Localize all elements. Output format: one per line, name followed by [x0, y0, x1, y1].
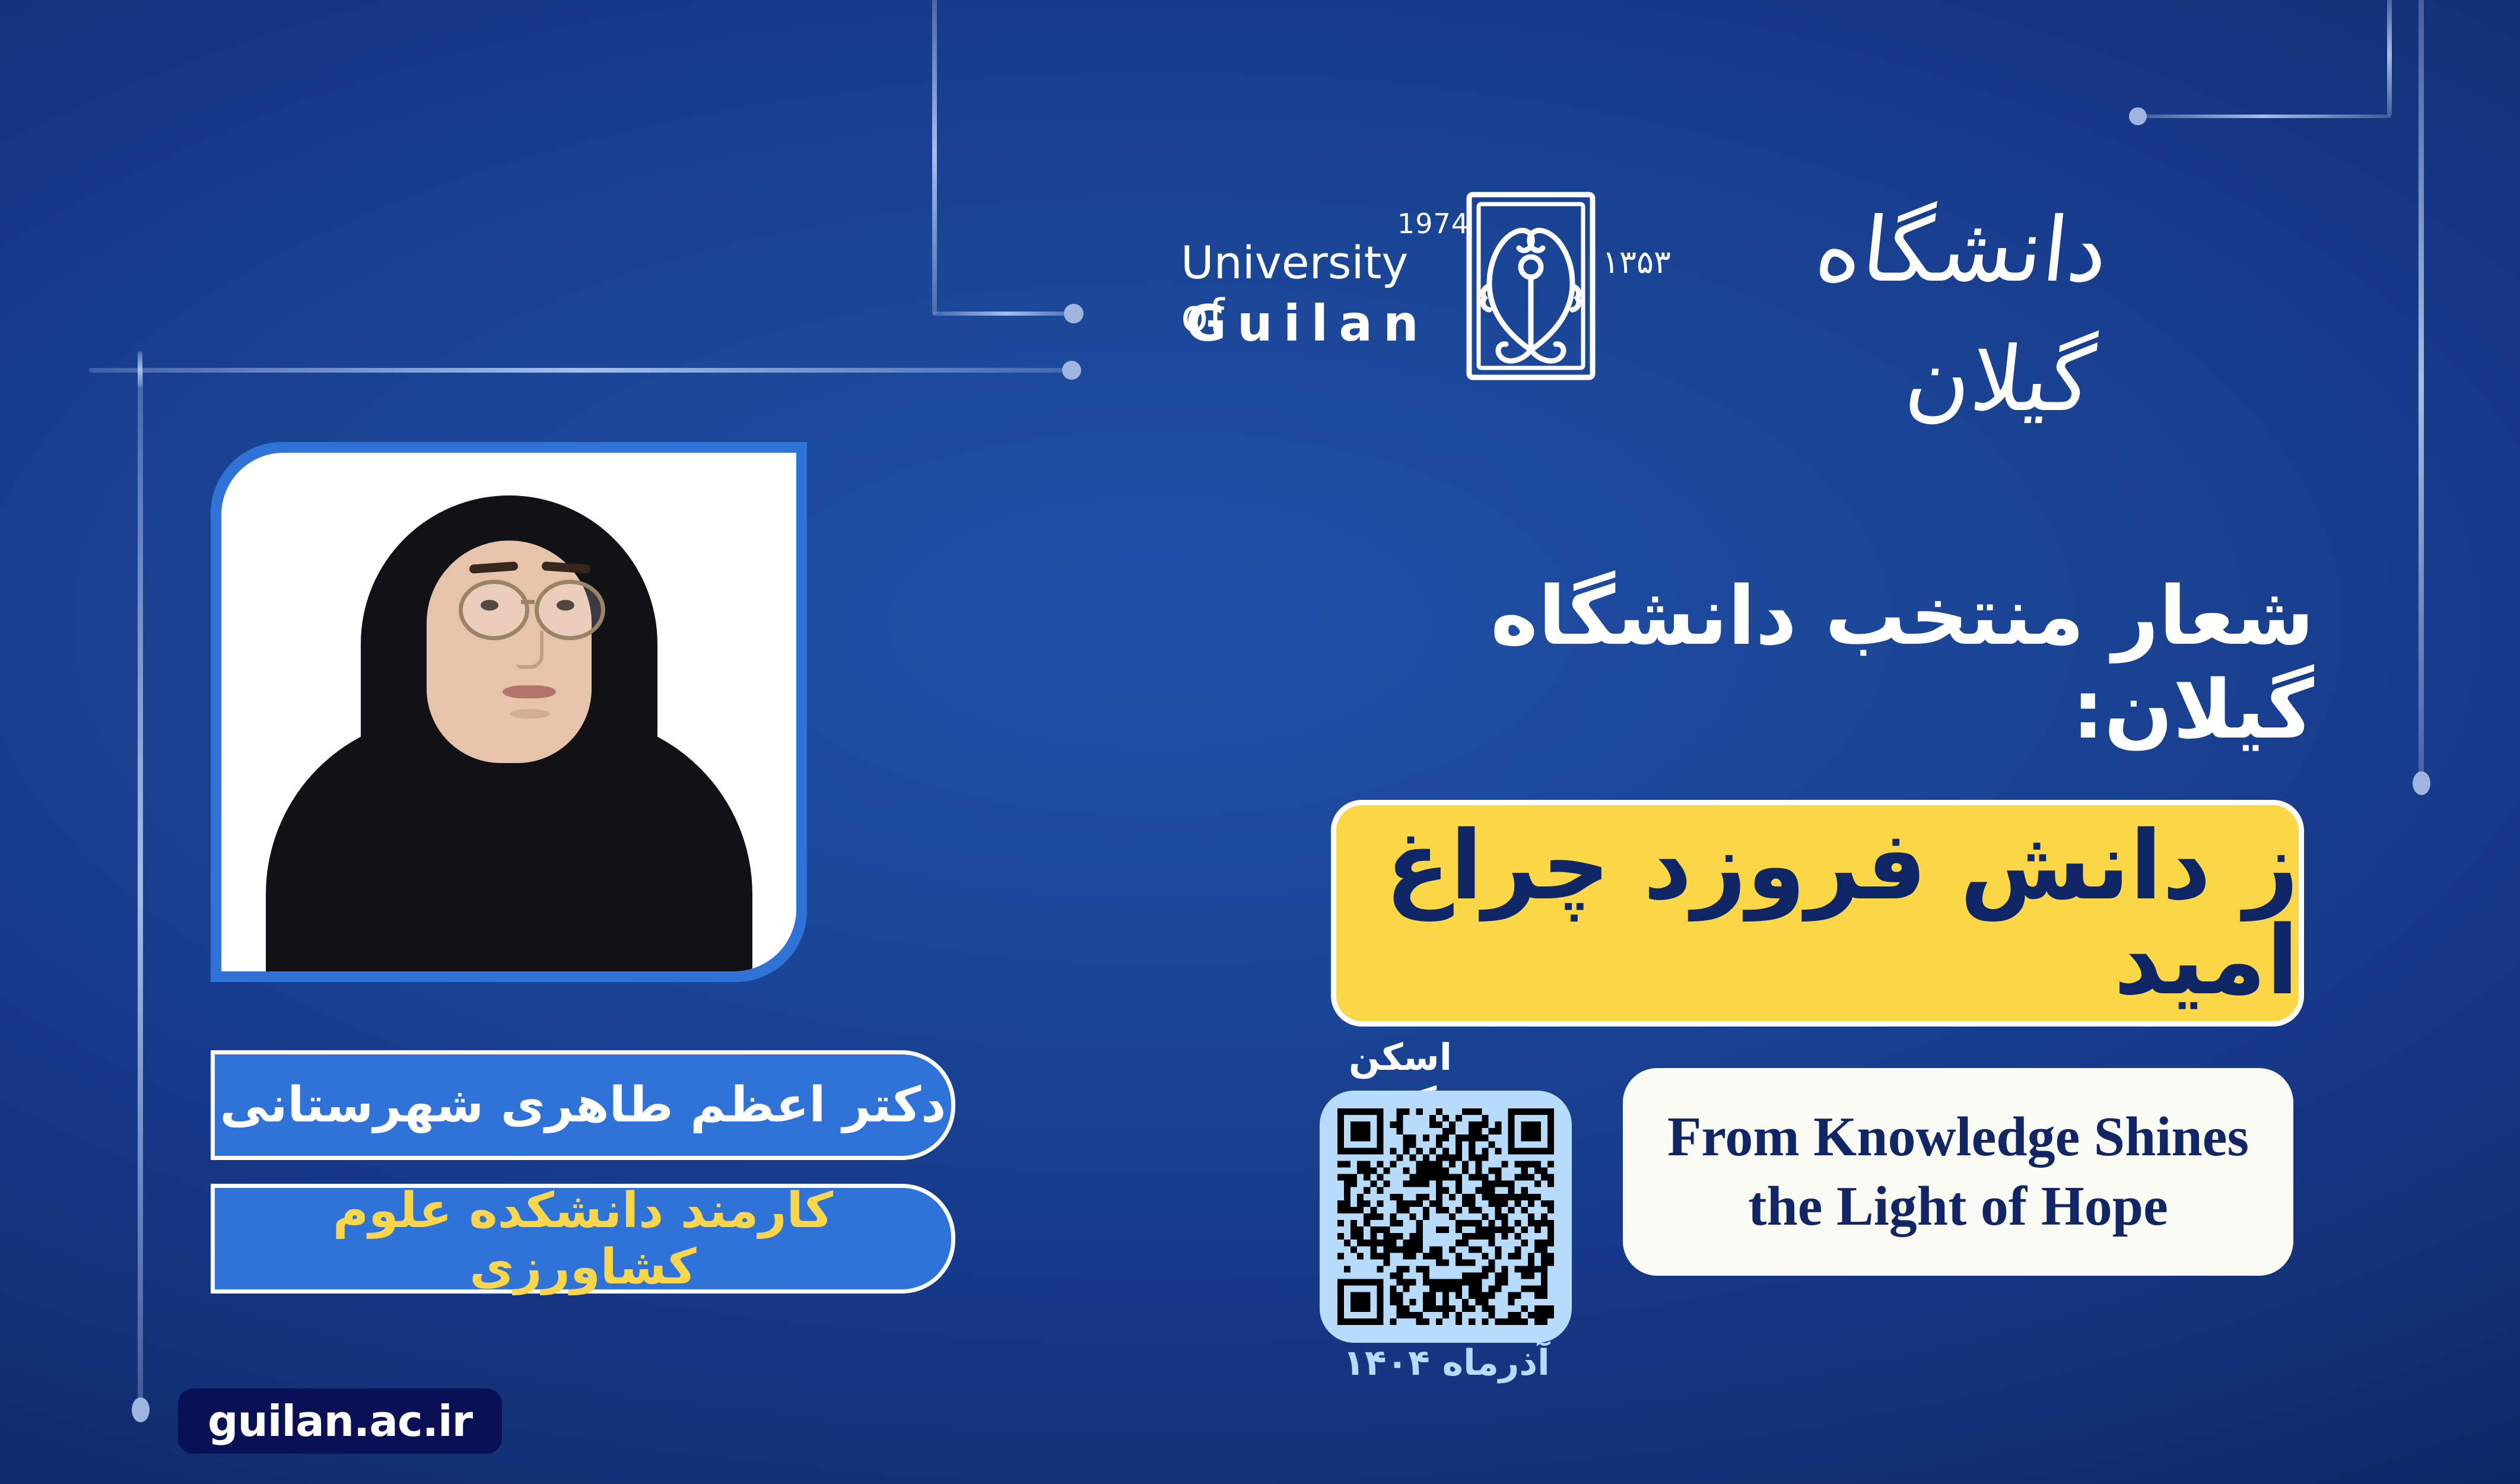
guilan-university-emblem-icon — [1466, 191, 1596, 381]
persian-slogan-text: ز دانش فروزد چراغ امید — [1336, 818, 2299, 1008]
portrait-eyeglass-right — [535, 580, 605, 640]
portrait-eyeglass-bridge — [521, 600, 535, 604]
website-url-badge[interactable]: guilan.ac.ir — [178, 1388, 502, 1454]
poster-canvas: 1974 University of Guilan ۱۳۵۳ دانشگاه — [0, 0, 2520, 1484]
person-name-badge: دکتر اعظم طاهری شهرستانی — [211, 1050, 955, 1160]
person-role-badge: کارمند دانشکده علوم کشاورزی — [211, 1184, 955, 1294]
portrait-face — [427, 541, 592, 763]
decor-dot-top-left-horizontal-end — [1062, 361, 1081, 380]
decor-dot-right-vertical-end — [2413, 771, 2430, 795]
logo-year-gregorian: 1974 — [1397, 208, 1469, 240]
english-slogan-box: From Knowledge Shines the Light of Hope — [1623, 1068, 2293, 1276]
logo-english-lockup: 1974 University of Guilan — [1181, 178, 1460, 392]
logo-university-persian-text: دانشگاه گیلان — [1636, 186, 2114, 444]
website-url-label: guilan.ac.ir — [208, 1396, 472, 1446]
decor-line-top-right-vertical — [2387, 0, 2392, 116]
portrait-mouth — [503, 685, 556, 698]
decor-line-top-middle-vertical — [932, 0, 937, 314]
decor-line-top-left-horizontal — [89, 368, 1071, 373]
person-role-label: کارمند دانشکده علوم کشاورزی — [215, 1183, 951, 1295]
decor-dot-left-vertical-end — [132, 1397, 150, 1422]
decor-dot-top-middle-end — [1064, 304, 1083, 323]
slogan-heading: شعار منتخب دانشگاه گیلان: — [1305, 570, 2314, 757]
qr-code-icon[interactable] — [1337, 1108, 1554, 1325]
portrait-chin-shadow — [510, 709, 550, 719]
decor-line-top-right-horizontal — [2136, 115, 2391, 118]
decor-dot-top-right-horizontal-start — [2129, 107, 2147, 125]
qr-date-label: آذرماه ۱۴۰۴ — [1308, 1342, 1584, 1384]
persian-slogan-box: ز دانش فروزد چراغ امید — [1331, 800, 2304, 1027]
decor-line-right-vertical — [2419, 0, 2424, 777]
decor-line-top-middle-horizontal — [932, 312, 1081, 316]
portrait-frame — [211, 442, 807, 982]
decor-line-left-vertical — [138, 369, 143, 1402]
person-name-label: دکتر اعظم طاهری شهرستانی — [220, 1077, 946, 1133]
portrait-nose — [516, 631, 544, 669]
qr-code-card[interactable] — [1320, 1091, 1572, 1343]
portrait-photo — [221, 453, 796, 971]
university-logo: 1974 University of Guilan ۱۳۵۳ دانشگاه — [1181, 178, 2106, 392]
logo-guilan-text: Guilan — [1186, 294, 1429, 352]
english-slogan-text: From Knowledge Shines the Light of Hope — [1667, 1102, 2249, 1242]
